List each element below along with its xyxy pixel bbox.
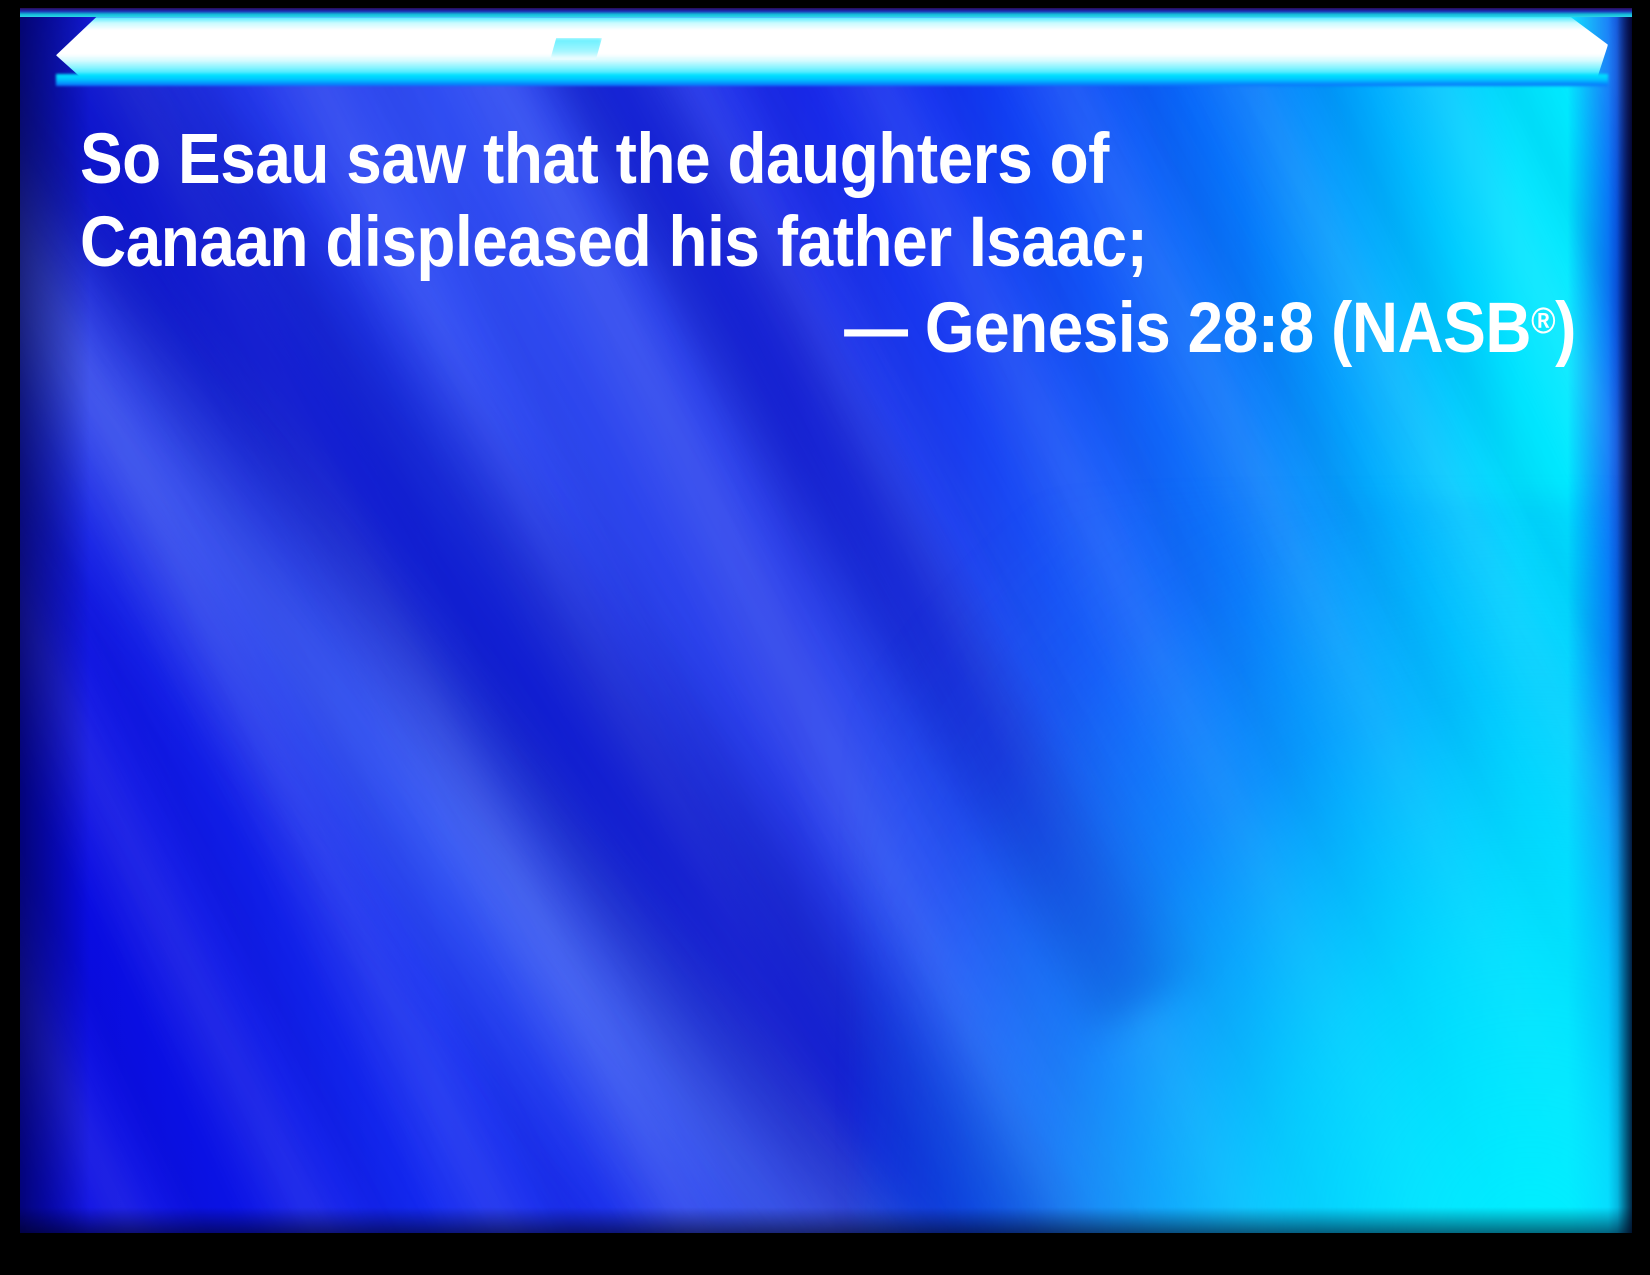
background-right-vignette: [1608, 8, 1632, 1233]
verse-content: So Esau saw that the daughters of Canaan…: [80, 118, 1576, 370]
top-bar-teal-rule: [20, 8, 1632, 17]
top-bar-cyan-lip: [56, 74, 1608, 86]
verse-body-text: So Esau saw that the daughters of Canaan…: [80, 118, 1426, 284]
citation-em-dash: —: [844, 289, 925, 368]
citation-reference: Genesis 28:8 (NASB: [925, 289, 1531, 368]
registered-trademark-icon: ®: [1531, 300, 1555, 341]
top-decorative-bar: [20, 8, 1632, 90]
citation-closing-paren: ): [1555, 289, 1576, 368]
background-cyan-corner-glow: [858, 498, 1632, 1233]
top-bar-cyan-notch: [550, 38, 602, 60]
background-bottom-vignette: [20, 1207, 1632, 1233]
verse-citation: — Genesis 28:8 (NASB®): [230, 287, 1576, 370]
verse-slide: So Esau saw that the daughters of Canaan…: [0, 0, 1650, 1275]
